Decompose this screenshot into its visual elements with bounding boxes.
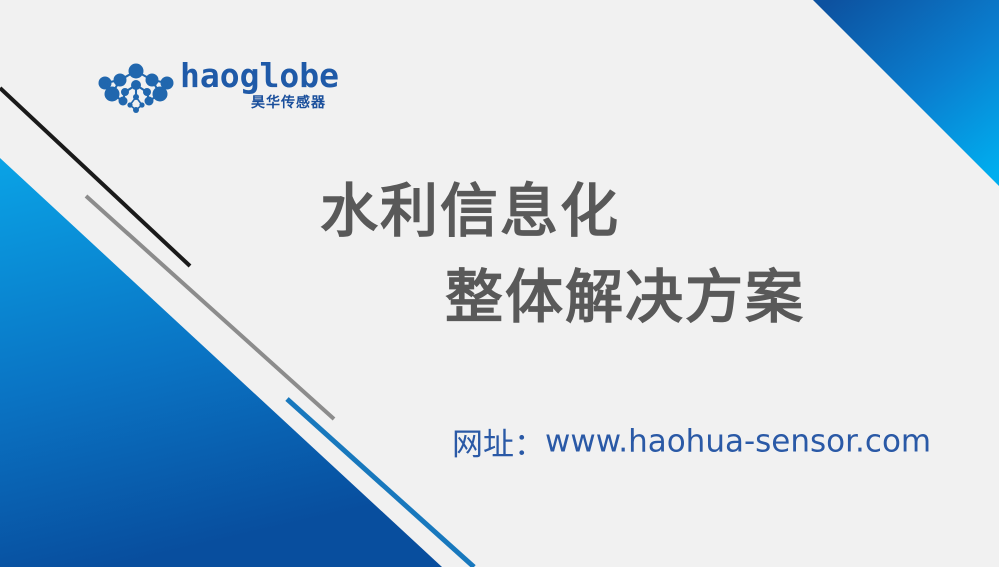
logo-subtext: 昊华传感器 (180, 94, 326, 112)
website-url-value[interactable]: www.haohua-sensor.com (545, 424, 931, 460)
title-line-2: 整体解决方案 (0, 254, 870, 340)
website-url-label: 网址： (452, 427, 545, 463)
slide-canvas: haoglobe 昊华传感器 水利信息化 整体解决方案 网址：www.haohu… (0, 0, 999, 567)
logo-wordmark-group: haoglobe 昊华传感器 (180, 58, 326, 120)
logo-wordmark-text: haoglobe (180, 58, 326, 94)
company-logo: haoglobe 昊华传感器 (96, 58, 326, 120)
slide-title: 水利信息化 整体解决方案 (0, 168, 870, 340)
website-url-line: 网址：www.haohua-sensor.com (452, 419, 931, 464)
molecular-network-logo-icon (96, 62, 176, 116)
title-line-1: 水利信息化 (0, 168, 870, 254)
